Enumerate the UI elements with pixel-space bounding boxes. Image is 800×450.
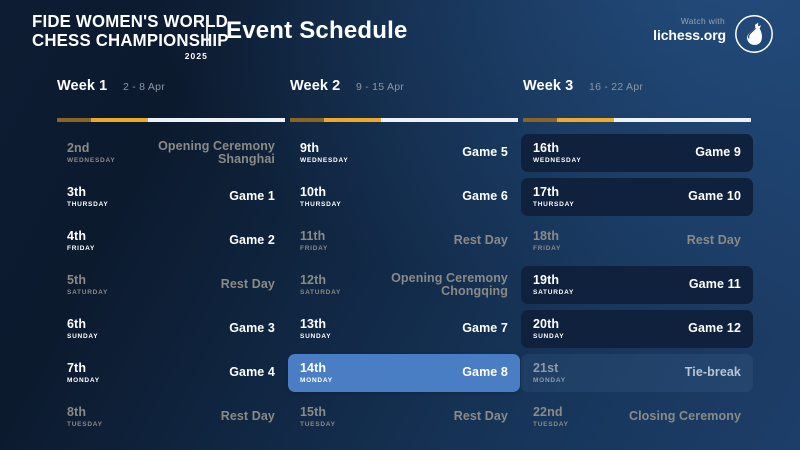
row-date: 22nd TUESDAY	[533, 406, 569, 428]
schedule-row[interactable]: 10th THURSDAY Game 6	[288, 178, 520, 216]
schedule-row[interactable]: 22nd TUESDAY Closing Ceremony	[521, 398, 753, 436]
week-header-3: Week 3 16 - 22 Apr	[521, 78, 753, 104]
progress-segment-done	[57, 118, 91, 122]
row-day-number: 22nd	[533, 406, 569, 419]
row-day-number: 7th	[67, 362, 100, 375]
row-event: Closing Ceremony	[629, 410, 741, 424]
schedule-grid: Week 1 2 - 8 Apr 2nd WEDNESDAY Opening C…	[0, 78, 800, 438]
row-event: Game 2	[229, 234, 275, 248]
week-label: Week 3	[523, 78, 573, 94]
page-header: FIDE WOMEN'S WORLD CHESS CHAMPIONSHIP 20…	[0, 0, 800, 72]
row-weekday: SATURDAY	[67, 290, 108, 297]
row-date: 17th THURSDAY	[533, 186, 575, 208]
row-event: Opening Ceremony Shanghai	[158, 140, 275, 167]
row-event: Game 11	[689, 278, 741, 292]
page-title: Event Schedule	[226, 17, 408, 45]
row-weekday: MONDAY	[533, 378, 566, 385]
week-date-range: 2 - 8 Apr	[123, 81, 165, 93]
row-date: 15th TUESDAY	[300, 406, 336, 428]
row-weekday: TUESDAY	[67, 422, 103, 429]
row-date: 20th SUNDAY	[533, 318, 564, 340]
row-weekday: TUESDAY	[300, 422, 336, 429]
schedule-row[interactable]: 9th WEDNESDAY Game 5	[288, 134, 520, 172]
row-weekday: TUESDAY	[533, 422, 569, 429]
row-date: 6th SUNDAY	[67, 318, 98, 340]
row-day-number: 15th	[300, 406, 336, 419]
schedule-row[interactable]: 21st MONDAY Tie-break	[521, 354, 753, 392]
week-label: Week 1	[57, 78, 107, 94]
schedule-row[interactable]: 12th SATURDAY Opening Ceremony Chongqing	[288, 266, 520, 304]
row-date: 8th TUESDAY	[67, 406, 103, 428]
row-day-number: 20th	[533, 318, 564, 331]
row-weekday: MONDAY	[67, 378, 100, 385]
brand-year: 2025	[32, 51, 208, 61]
week-label: Week 2	[290, 78, 340, 94]
row-event: Game 12	[688, 322, 741, 336]
row-date: 3th THURSDAY	[67, 186, 109, 208]
row-event: Tie-break	[685, 366, 741, 380]
row-weekday: FRIDAY	[533, 246, 561, 253]
row-event: Rest Day	[687, 234, 741, 248]
week-header-1: Week 1 2 - 8 Apr	[55, 78, 287, 104]
row-date: 12th SATURDAY	[300, 274, 341, 296]
row-day-number: 8th	[67, 406, 103, 419]
schedule-row[interactable]: 11th FRIDAY Rest Day	[288, 222, 520, 260]
row-date: 5th SATURDAY	[67, 274, 108, 296]
progress-segment-remaining	[381, 118, 518, 122]
row-day-number: 13th	[300, 318, 331, 331]
progress-segment-current	[324, 118, 381, 122]
week-progress-bar-2	[290, 118, 518, 122]
progress-segment-done	[290, 118, 324, 122]
row-weekday: SUNDAY	[67, 334, 98, 341]
schedule-row[interactable]: 13th SUNDAY Game 7	[288, 310, 520, 348]
week-progress-bar-1	[57, 118, 285, 122]
row-day-number: 16th	[533, 142, 581, 155]
row-weekday: FRIDAY	[67, 246, 95, 253]
schedule-row-active[interactable]: 14th MONDAY Game 8	[288, 354, 520, 392]
row-day-number: 2nd	[67, 142, 115, 155]
week-column-2: Week 2 9 - 15 Apr 9th WEDNESDAY Game 5 1…	[288, 78, 520, 442]
row-date: 9th WEDNESDAY	[300, 142, 348, 164]
week-header-2: Week 2 9 - 15 Apr	[288, 78, 520, 104]
row-event: Rest Day	[221, 278, 275, 292]
row-event: Game 10	[688, 190, 741, 204]
row-weekday: WEDNESDAY	[533, 158, 581, 165]
row-day-number: 12th	[300, 274, 341, 287]
schedule-row[interactable]: 20th SUNDAY Game 12	[521, 310, 753, 348]
progress-segment-remaining	[614, 118, 751, 122]
week-rows-3: 16th WEDNESDAY Game 9 17th THURSDAY Game…	[521, 134, 753, 436]
week-rows-2: 9th WEDNESDAY Game 5 10th THURSDAY Game …	[288, 134, 520, 436]
row-weekday: WEDNESDAY	[67, 158, 115, 165]
lichess-wordmark: Watch with lichess.org	[653, 16, 726, 43]
row-event: Game 9	[695, 146, 741, 160]
row-date: 10th THURSDAY	[300, 186, 342, 208]
schedule-row[interactable]: 6th SUNDAY Game 3	[55, 310, 287, 348]
row-event: Rest Day	[454, 234, 508, 248]
row-date: 7th MONDAY	[67, 362, 100, 384]
row-date: 21st MONDAY	[533, 362, 566, 384]
schedule-row[interactable]: 5th SATURDAY Rest Day	[55, 266, 287, 304]
row-weekday: THURSDAY	[533, 202, 575, 209]
row-day-number: 17th	[533, 186, 575, 199]
row-day-number: 6th	[67, 318, 98, 331]
row-event: Opening Ceremony Chongqing	[391, 272, 508, 299]
row-weekday: SATURDAY	[533, 290, 574, 297]
schedule-row[interactable]: 8th TUESDAY Rest Day	[55, 398, 287, 436]
row-day-number: 19th	[533, 274, 574, 287]
row-weekday: FRIDAY	[300, 246, 328, 253]
schedule-row[interactable]: 15th TUESDAY Rest Day	[288, 398, 520, 436]
row-date: 13th SUNDAY	[300, 318, 331, 340]
brand-line-2: CHESS CHAMPIONSHIP	[32, 31, 229, 50]
row-event: Game 3	[229, 322, 275, 336]
schedule-row[interactable]: 17th THURSDAY Game 10	[521, 178, 753, 216]
row-date: 16th WEDNESDAY	[533, 142, 581, 164]
schedule-row[interactable]: 3th THURSDAY Game 1	[55, 178, 287, 216]
schedule-row[interactable]: 18th FRIDAY Rest Day	[521, 222, 753, 260]
row-day-number: 3th	[67, 186, 109, 199]
brand-line-1: FIDE WOMEN'S WORLD	[32, 12, 229, 31]
chess-knight-icon	[734, 14, 774, 54]
vertical-divider	[206, 15, 208, 46]
row-event: Game 8	[462, 366, 508, 380]
row-weekday: SUNDAY	[300, 334, 331, 341]
schedule-row[interactable]: 16th WEDNESDAY Game 9	[521, 134, 753, 172]
lichess-org-label: lichess.org	[653, 27, 726, 43]
row-day-number: 11th	[300, 230, 328, 243]
row-date: 4th FRIDAY	[67, 230, 95, 252]
row-weekday: THURSDAY	[67, 202, 109, 209]
progress-segment-current	[557, 118, 614, 122]
week-date-range: 9 - 15 Apr	[356, 81, 404, 93]
row-event: Game 6	[462, 190, 508, 204]
row-weekday: WEDNESDAY	[300, 158, 348, 165]
schedule-row[interactable]: 7th MONDAY Game 4	[55, 354, 287, 392]
row-date: 19th SATURDAY	[533, 274, 574, 296]
row-day-number: 14th	[300, 362, 333, 375]
progress-segment-done	[523, 118, 557, 122]
row-event: Rest Day	[221, 410, 275, 424]
row-weekday: THURSDAY	[300, 202, 342, 209]
row-event: Rest Day	[454, 410, 508, 424]
row-date: 18th FRIDAY	[533, 230, 561, 252]
progress-segment-current	[91, 118, 148, 122]
row-day-number: 10th	[300, 186, 342, 199]
watch-with-label: Watch with	[653, 16, 725, 27]
schedule-row[interactable]: 4th FRIDAY Game 2	[55, 222, 287, 260]
row-date: 2nd WEDNESDAY	[67, 142, 115, 164]
week-column-3: Week 3 16 - 22 Apr 16th WEDNESDAY Game 9…	[521, 78, 753, 442]
row-weekday: SUNDAY	[533, 334, 564, 341]
row-weekday: SATURDAY	[300, 290, 341, 297]
row-weekday: MONDAY	[300, 378, 333, 385]
row-day-number: 5th	[67, 274, 108, 287]
schedule-row[interactable]: 19th SATURDAY Game 11	[521, 266, 753, 304]
row-event: Game 7	[462, 322, 508, 336]
schedule-row[interactable]: 2nd WEDNESDAY Opening Ceremony Shanghai	[55, 134, 287, 172]
week-progress-bar-3	[523, 118, 751, 122]
progress-segment-remaining	[148, 118, 285, 122]
week-date-range: 16 - 22 Apr	[589, 81, 643, 93]
row-day-number: 9th	[300, 142, 348, 155]
row-event: Game 1	[229, 190, 275, 204]
row-event: Game 5	[462, 146, 508, 160]
row-day-number: 4th	[67, 230, 95, 243]
week-rows-1: 2nd WEDNESDAY Opening Ceremony Shanghai …	[55, 134, 287, 436]
week-column-1: Week 1 2 - 8 Apr 2nd WEDNESDAY Opening C…	[55, 78, 287, 442]
row-date: 11th FRIDAY	[300, 230, 328, 252]
row-day-number: 21st	[533, 362, 566, 375]
row-date: 14th MONDAY	[300, 362, 333, 384]
row-event: Game 4	[229, 366, 275, 380]
row-day-number: 18th	[533, 230, 561, 243]
